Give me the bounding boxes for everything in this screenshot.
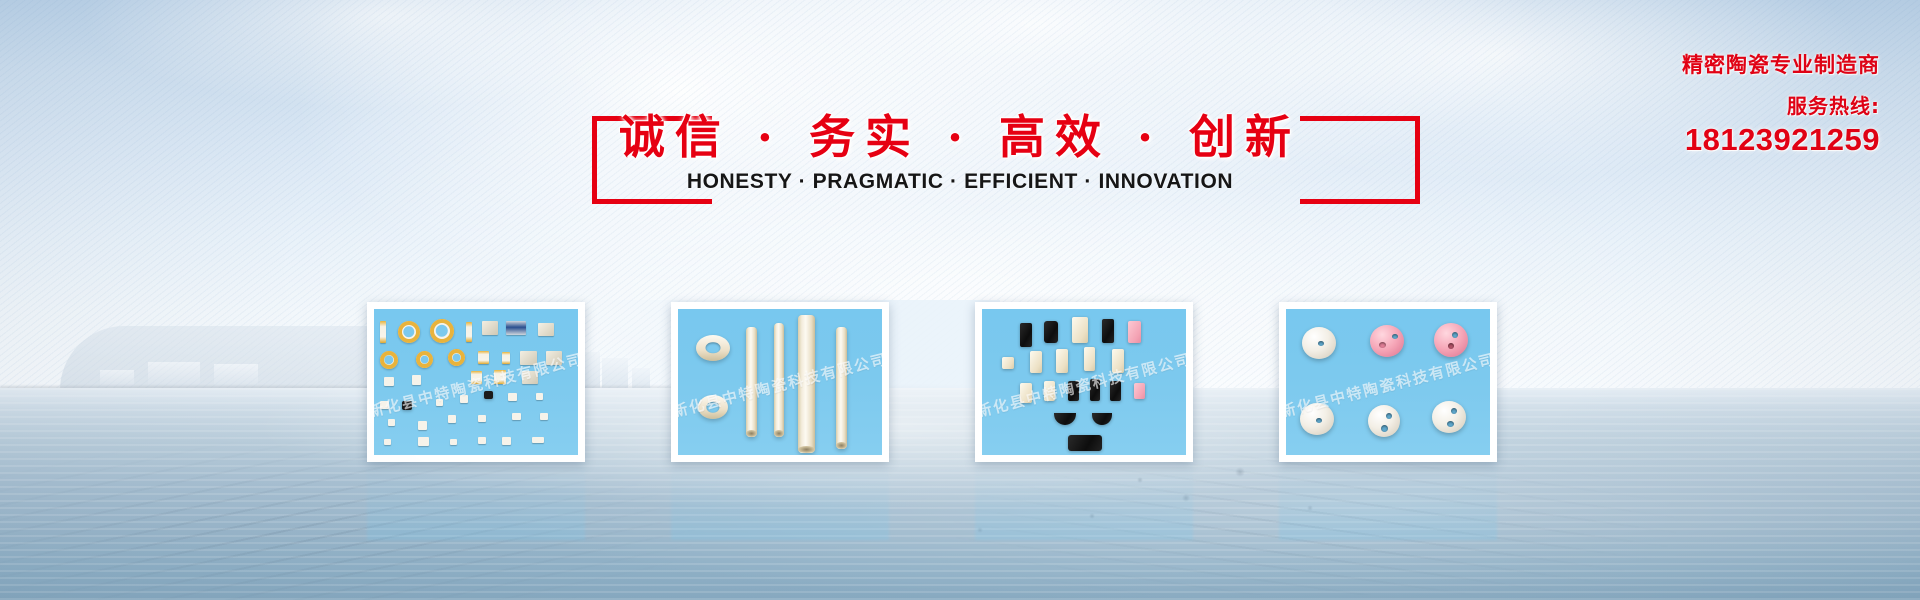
product-photo-4: 新化县中特陶瓷科技有限公司 <box>1286 309 1490 455</box>
product-panel-discs[interactable]: 新化县中特陶瓷科技有限公司 <box>1279 302 1497 462</box>
product-photo-2: 新化县中特陶瓷科技有限公司 <box>678 309 882 455</box>
hotline-number[interactable]: 18123921259 <box>1540 122 1880 158</box>
product-panel-smd-chips[interactable]: 新化县中特陶瓷科技有限公司 <box>367 302 585 462</box>
product-photo-1: 新化县中特陶瓷科技有限公司 <box>374 309 578 455</box>
product-panel-tubes[interactable]: 新化县中特陶瓷科技有限公司 <box>671 302 889 462</box>
slogan-english: HONESTY · PRAGMATIC · EFFICIENT · INNOVA… <box>0 170 1920 194</box>
contact-block: 精密陶瓷专业制造商 服务热线: 18123921259 <box>1540 52 1880 158</box>
hotline-label: 服务热线: <box>1540 94 1880 119</box>
product-photo-3: 新化县中特陶瓷科技有限公司 <box>982 309 1186 455</box>
product-gallery: 新化县中特陶瓷科技有限公司 新化县中特陶瓷科技有限公司 <box>367 302 1562 462</box>
product-panel-blocks[interactable]: 新化县中特陶瓷科技有限公司 <box>975 302 1193 462</box>
company-tagline: 精密陶瓷专业制造商 <box>1540 52 1880 78</box>
banner-stage: 诚信 · 务实 · 高效 · 创新 HONESTY · PRAGMATIC · … <box>0 0 1920 600</box>
